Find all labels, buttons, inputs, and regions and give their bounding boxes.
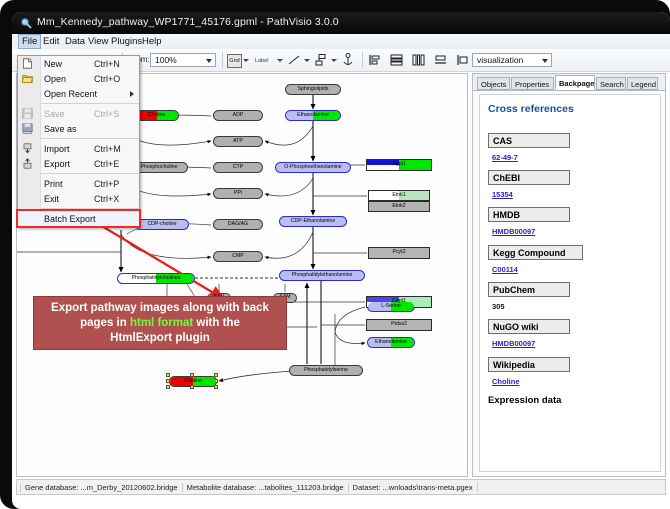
file-menu-save-accel: Ctrl+S [94,109,119,119]
menu-bar[interactable]: File Edit Data View Plugins Help [12,34,670,50]
node-phosphatidylcholines[interactable]: Phosphatidylcholines [117,273,195,284]
file-menu-print[interactable]: Print Ctrl+P [18,176,139,191]
xref-label-wikipedia: Wikipedia [488,357,570,372]
file-menu-save: Save Ctrl+S [18,106,139,121]
datanode-label: Gnd [229,58,239,64]
toolbar-separator-2 [222,52,223,68]
zoom-combo[interactable]: 100% [150,53,216,67]
import-icon [22,143,33,154]
annotation-callout: Export pathway images along with back pa… [33,296,287,350]
side-panel[interactable]: Objects Properties Backpage Search Legen… [472,73,666,477]
pathvisio-app-icon [20,17,32,29]
node-choline-top[interactable]: Choline [134,110,179,121]
callout-line-1: Export pathway images along with back [51,301,269,316]
open-folder-icon [22,73,33,84]
status-bar: Gene database: ...m_Derby_20120602.bridg… [16,479,666,495]
file-menu-exit-accel: Ctrl+X [94,194,119,204]
xref-value-cas[interactable]: 62-49-7 [492,153,518,162]
xref-value-nugo[interactable]: HMDB00097 [492,339,535,348]
file-menu-separator-3 [40,173,139,174]
gene-ptdss2[interactable]: Ptdss2 [366,319,432,331]
node-dag-ag[interactable]: DAG/AG [213,219,263,230]
file-menu-save-as-label: Save as [44,124,77,134]
title-bar: Mm_Kennedy_pathway_WP1771_45176.gpml - P… [12,12,670,34]
callout-line-2a: pages in [80,317,130,329]
save-as-icon [22,123,33,134]
callout-line-3: HtmlExport plugin [51,331,269,346]
line-dropdown-icon[interactable] [304,59,310,62]
node-l-serine[interactable]: L-Serine [367,301,415,312]
node-ethanolamine-2[interactable]: Ethanolamine [367,337,415,348]
file-menu-open-recent-label: Open Recent [44,89,97,99]
gene-pcyt2[interactable]: Pcyt2 [368,247,430,259]
file-menu-print-label: Print [44,179,63,189]
file-menu-export[interactable]: Export Ctrl+E [18,156,139,171]
menu-file[interactable]: File [18,34,41,49]
backpage-heading: Cross references [488,103,574,115]
tab-objects[interactable]: Objects [477,77,510,90]
node-cdp-choline[interactable]: CDP-choline [135,219,189,230]
file-menu-export-accel: Ctrl+E [94,159,119,169]
callout-line-2: pages in html format with the [51,316,269,331]
file-menu-batch-export-label: Batch Export [44,214,96,224]
distribute-icon[interactable] [412,54,425,66]
save-disk-icon [22,108,33,119]
label-button[interactable]: Label [255,53,268,68]
menu-edit[interactable]: Edit [40,35,62,48]
file-menu-save-label: Save [44,109,65,119]
visualization-combo[interactable]: visualization [472,53,552,67]
file-menu-separator-2 [40,138,139,139]
node-adp[interactable]: ADP [213,110,263,121]
xref-label-kegg: Kegg Compound [488,245,583,260]
align-left-icon[interactable] [368,54,381,66]
xref-label-chebi: ChEBI [488,170,570,185]
file-menu-open-accel: Ctrl+O [94,74,120,84]
file-menu-new-accel: Ctrl+N [94,59,120,69]
file-menu-import[interactable]: Import Ctrl+M [18,141,139,156]
handle-se[interactable] [214,385,218,389]
anchor-icon[interactable] [342,53,354,67]
node-cdp-ethanolamine[interactable]: CDP-Ethanolamine [279,216,347,227]
align-center-icon[interactable] [390,54,403,66]
zoom-value: 100% [155,55,177,65]
file-menu-exit-label: Exit [44,194,59,204]
callout-highlight: html format [130,317,193,329]
label-button-text: Label [255,58,268,64]
file-menu-open-label: Open [44,74,66,84]
gene-etnk1[interactable]: Etnk1 [368,190,430,201]
window-frame: Mm_Kennedy_pathway_WP1771_45176.gpml - P… [0,0,670,509]
xref-value-pubchem: 305 [492,302,505,311]
xref-value-wikipedia[interactable]: Choline [492,377,520,386]
file-menu-exit[interactable]: Exit Ctrl+X [18,191,139,206]
datanode-button[interactable]: Gnd [227,54,242,68]
node-ppi[interactable]: PPi [213,188,263,199]
node-ethanolamine-1[interactable]: Ethanolamine [285,110,341,121]
file-menu-export-label: Export [44,159,70,169]
toolbar-separator-3 [362,52,363,68]
xref-value-hmdb[interactable]: HMDB00097 [492,227,535,236]
datanode-dropdown-icon[interactable] [243,59,249,62]
export-icon [22,158,33,169]
chevron-down-icon-2 [542,59,548,63]
submenu-chevron-icon [130,91,134,97]
file-menu-new[interactable]: New Ctrl+N [18,56,139,71]
node-atp[interactable]: ATP [213,136,263,147]
shape-icon[interactable] [315,54,327,66]
backpage-content: Cross references CAS 62-49-7 ChEBI 15354… [479,94,661,472]
window-title: Mm_Kennedy_pathway_WP1771_45176.gpml - P… [37,16,339,28]
line-icon[interactable] [288,55,300,65]
tab-legend[interactable]: Legend [627,77,658,90]
xref-value-kegg[interactable]: C00114 [492,265,518,274]
menu-help[interactable]: Help [139,35,165,48]
xref-label-cas: CAS [488,133,570,148]
file-menu-new-label: New [44,59,62,69]
xref-label-hmdb: HMDB [488,207,570,222]
status-metabolite-database: Metabolite database: ...tabolites_111203… [183,483,349,492]
node-choline-bottom[interactable]: Choline [169,376,217,387]
file-menu-import-accel: Ctrl+M [94,144,121,154]
file-menu-open-recent[interactable]: Open Recent [18,86,139,101]
file-menu-separator-4 [40,208,139,209]
xref-label-nugo: NuGO wiki [488,319,570,334]
tab-backpage[interactable]: Backpage [555,75,595,90]
file-menu-open[interactable]: Open Ctrl+O [18,71,139,86]
tab-search[interactable]: Search [596,77,626,90]
tab-properties[interactable]: Properties [511,77,554,90]
stack-icon[interactable] [434,54,447,66]
node-o-phosphoethanolamine[interactable]: O-Phosphoethanolamine [275,162,351,173]
node-sphingolipids[interactable]: Sphingolipids [285,84,341,95]
expression-data-heading: Expression data [488,395,561,406]
node-cmp[interactable]: CMP [213,251,263,262]
file-menu-popup[interactable]: New Ctrl+N Open Ctrl+O Open Recent Save … [17,55,140,227]
side-panel-tabs[interactable]: Objects Properties Backpage Search Legen… [473,74,665,91]
handle-ne[interactable] [214,373,218,377]
callout-line-2b: with the [193,317,240,329]
gene-sgpl1[interactable]: Sgpl1 [366,159,432,171]
visualization-value: visualization [477,55,523,65]
chevron-down-icon [206,59,212,63]
file-menu-print-accel: Ctrl+P [94,179,119,189]
file-menu-import-label: Import [44,144,70,154]
new-file-icon [22,58,33,69]
file-menu-separator-1 [40,103,139,104]
status-gene-database: Gene database: ...m_Derby_20120602.bridg… [20,483,183,492]
label-dropdown-icon[interactable] [277,59,283,62]
xref-value-chebi[interactable]: 15354 [492,190,513,199]
order-icon[interactable] [456,54,469,66]
file-menu-batch-export[interactable]: Batch Export [18,211,139,226]
handle-sw[interactable] [166,385,170,389]
gene-etnk2[interactable]: Etnk2 [368,201,430,212]
handle-nw[interactable] [166,373,170,377]
xref-label-pubchem: PubChem [488,282,570,297]
node-phosphatidylserine[interactable]: Phosphatidylserine [289,365,363,376]
file-menu-save-as[interactable]: Save as [18,121,139,136]
node-phosphatidylethanolamine[interactable]: Phosphatidylethanolamine [279,270,365,281]
node-ctp[interactable]: CTP [213,162,263,173]
shape-dropdown-icon[interactable] [331,59,337,62]
status-dataset: Dataset: ...wnloads\trans-meta.pgex [349,483,478,492]
